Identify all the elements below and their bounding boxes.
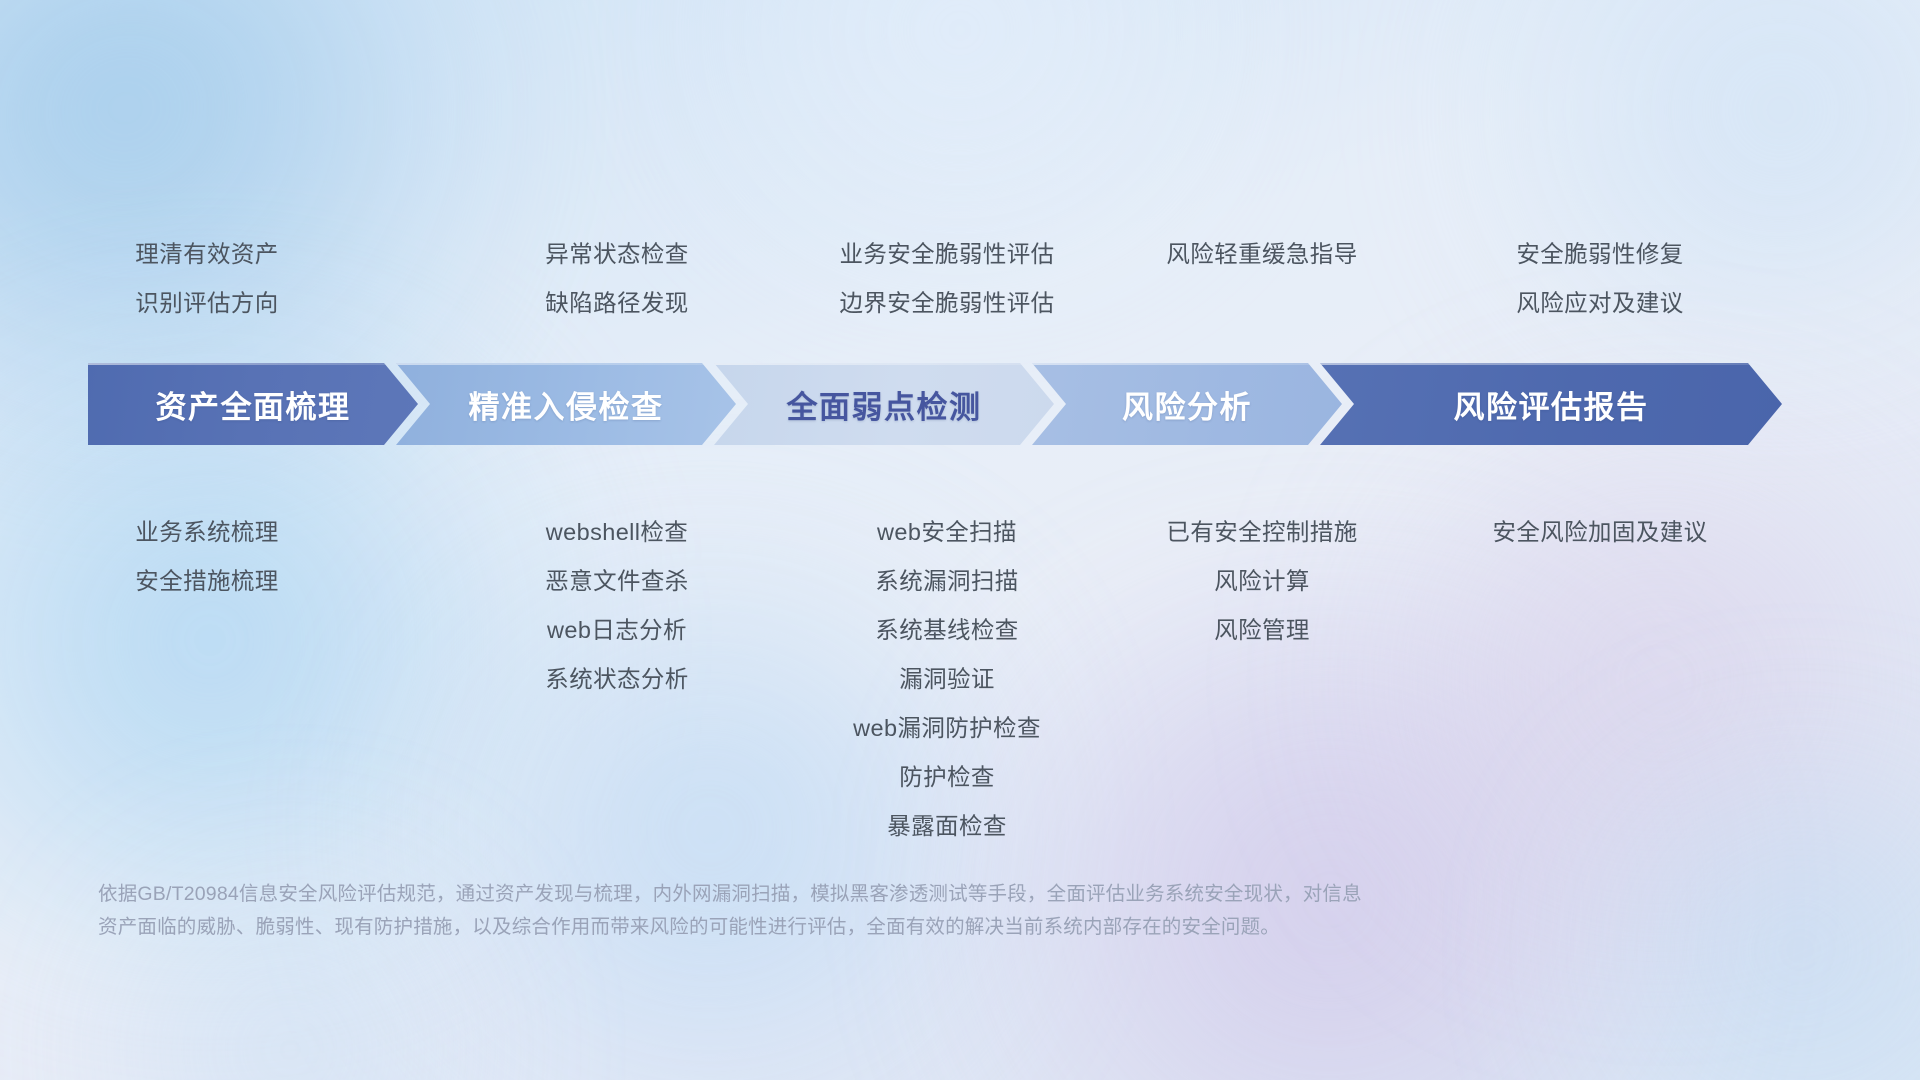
list-item: 缺陷路径发现 (462, 279, 772, 328)
list-item: 暴露面检查 (782, 802, 1112, 851)
list-item: 恶意文件查杀 (462, 557, 772, 606)
top-items-risk-analysis: 风险轻重缓急指导 (1112, 230, 1412, 328)
stage-arrow-intrusion-check[interactable]: 精准入侵检查 (396, 363, 736, 445)
list-item: 识别评估方向 (92, 279, 322, 328)
list-item: webshell检查 (462, 508, 772, 557)
list-item: web安全扫描 (782, 508, 1112, 557)
list-item: web漏洞防护检查 (782, 704, 1112, 753)
list-item: 系统状态分析 (462, 655, 772, 704)
slide-canvas: 理清有效资产 识别评估方向 异常状态检查 缺陷路径发现 业务安全脆弱性评估 边界… (0, 0, 1920, 1080)
bottom-items-risk-report: 安全风险加固及建议 (1412, 508, 1828, 851)
list-item: 业务系统梳理 (92, 508, 322, 557)
stage-label: 全面弱点检测 (787, 382, 982, 427)
list-item: web日志分析 (462, 606, 772, 655)
stage-label: 精准入侵检查 (469, 382, 664, 427)
list-item: 业务安全脆弱性评估 (782, 230, 1112, 279)
stage-label: 风险评估报告 (1454, 382, 1649, 427)
stage-arrow-risk-report[interactable]: 风险评估报告 (1320, 363, 1782, 445)
top-items-weakness-detection: 业务安全脆弱性评估 边界安全脆弱性评估 (782, 230, 1112, 328)
bottom-items-row: 业务系统梳理 安全措施梳理 webshell检查 恶意文件查杀 web日志分析 … (92, 508, 1828, 851)
top-items-row: 理清有效资产 识别评估方向 异常状态检查 缺陷路径发现 业务安全脆弱性评估 边界… (92, 230, 1828, 328)
list-item: 已有安全控制措施 (1112, 508, 1412, 557)
footer-note: 依据GB/T20984信息安全风险评估规范，通过资产发现与梳理，内外网漏洞扫描，… (98, 878, 1738, 944)
top-items-intrusion-check: 异常状态检查 缺陷路径发现 (462, 230, 782, 328)
stage-arrow-risk-analysis[interactable]: 风险分析 (1032, 363, 1342, 445)
list-item: 风险应对及建议 (1412, 279, 1788, 328)
footer-line-1: 依据GB/T20984信息安全风险评估规范，通过资产发现与梳理，内外网漏洞扫描，… (98, 878, 1738, 911)
list-item: 安全风险加固及建议 (1412, 508, 1788, 557)
bottom-items-asset-inventory: 业务系统梳理 安全措施梳理 (92, 508, 462, 851)
stage-arrow-weakness-detection[interactable]: 全面弱点检测 (714, 363, 1054, 445)
list-item: 风险轻重缓急指导 (1112, 230, 1412, 279)
top-items-risk-report: 安全脆弱性修复 风险应对及建议 (1412, 230, 1828, 328)
stage-label: 风险分析 (1122, 382, 1252, 427)
list-item: 边界安全脆弱性评估 (782, 279, 1112, 328)
list-item: 风险管理 (1112, 606, 1412, 655)
list-item: 漏洞验证 (782, 655, 1112, 704)
stage-arrow-asset-inventory[interactable]: 资产全面梳理 (88, 363, 418, 445)
list-item: 系统漏洞扫描 (782, 557, 1112, 606)
list-item: 理清有效资产 (92, 230, 322, 279)
list-item: 系统基线检查 (782, 606, 1112, 655)
top-items-asset-inventory: 理清有效资产 识别评估方向 (92, 230, 462, 328)
process-arrow-band: 资产全面梳理 精准入侵检查 全面弱点检测 风险分析 风险评估报告 (88, 363, 1848, 445)
footer-line-2: 资产面临的威胁、脆弱性、现有防护措施，以及综合作用而带来风险的可能性进行评估，全… (98, 911, 1738, 944)
list-item: 防护检查 (782, 753, 1112, 802)
bottom-items-intrusion-check: webshell检查 恶意文件查杀 web日志分析 系统状态分析 (462, 508, 782, 851)
bottom-items-weakness-detection: web安全扫描 系统漏洞扫描 系统基线检查 漏洞验证 web漏洞防护检查 防护检… (782, 508, 1112, 851)
list-item: 安全措施梳理 (92, 557, 322, 606)
stage-label: 资产全面梳理 (156, 382, 351, 427)
list-item: 异常状态检查 (462, 230, 772, 279)
list-item: 安全脆弱性修复 (1412, 230, 1788, 279)
list-item: 风险计算 (1112, 557, 1412, 606)
bottom-items-risk-analysis: 已有安全控制措施 风险计算 风险管理 (1112, 508, 1412, 851)
